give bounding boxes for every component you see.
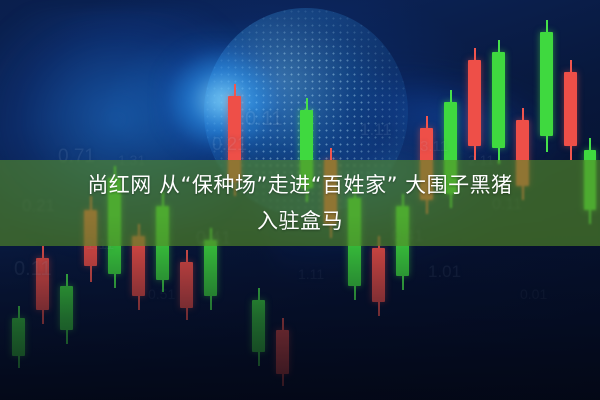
headline-line-1: 尚红网 从“保种场”走进“百姓家” 大围子黑猪: [87, 173, 512, 197]
candlestick-body: [564, 72, 577, 146]
headline-banner: 尚红网 从“保种场”走进“百姓家” 大围子黑猪 入驻盒马: [0, 160, 600, 246]
candlestick-body: [492, 52, 505, 148]
headline-text: 尚红网 从“保种场”走进“百姓家” 大围子黑猪 入驻盒马: [0, 167, 600, 239]
candlestick-body: [468, 60, 481, 146]
headline-line-2: 入驻盒马: [257, 209, 343, 233]
promo-image: 0.111.110.213.110.711.312.110.210.110.41…: [0, 0, 600, 400]
candlestick-body: [540, 32, 553, 136]
